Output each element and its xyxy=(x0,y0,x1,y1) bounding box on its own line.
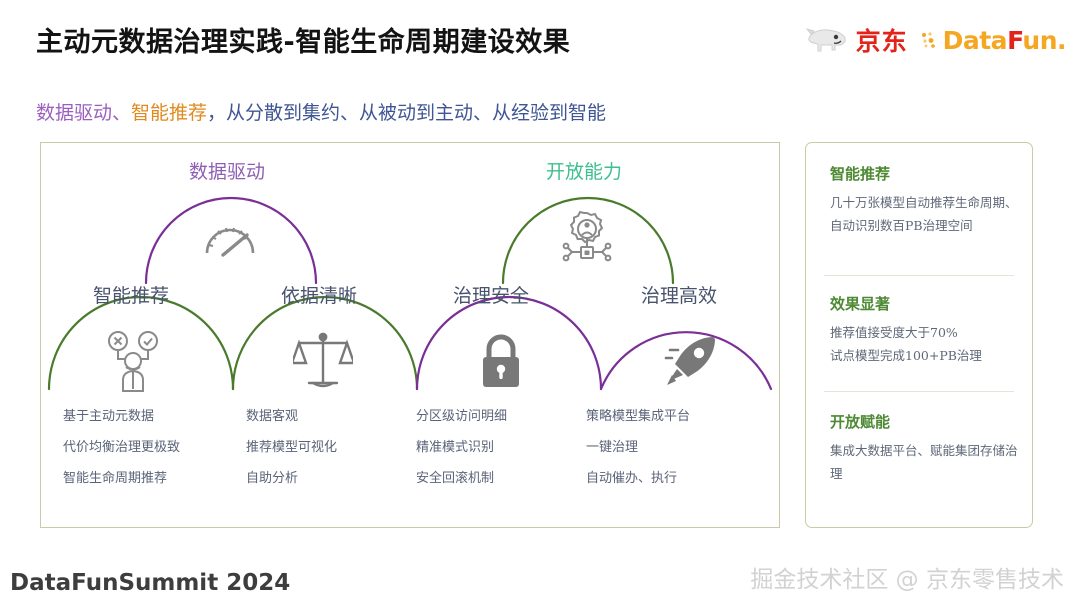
datafun-logo: DataFun. xyxy=(920,26,1066,55)
side-block-body-line: 试点模型完成100+PB治理 xyxy=(830,344,1018,367)
side-block-heading: 开放赋能 xyxy=(830,411,1018,432)
mid-label-1: 依据清晰 xyxy=(281,281,357,308)
side-divider xyxy=(824,275,1014,276)
bullet-column-0: 基于主动元数据 代价均衡治理更极致 智能生命周期推荐 xyxy=(63,401,180,494)
jd-logo: 京东 xyxy=(805,22,908,58)
mid-label-2: 治理安全 xyxy=(453,281,529,308)
bullet-column-2: 分区级访问明细 精准模式识别 安全回滚机制 xyxy=(416,401,507,494)
side-divider xyxy=(824,391,1014,392)
datafun-logo-text: DataFun. xyxy=(943,26,1066,55)
jd-logo-text: 京东 xyxy=(856,22,908,58)
subtitle-part-3: ，从分散到集约、从被动到主动、从经验到智能 xyxy=(207,102,606,124)
bullet-column-3: 策略模型集成平台 一键治理 自动催办、执行 xyxy=(586,401,690,494)
gear-network-person-icon xyxy=(556,209,618,274)
bullet-item: 安全回滚机制 xyxy=(416,463,507,494)
side-block-body-line: 推荐值接受度大于70% xyxy=(830,321,1018,344)
bullet-item: 精准模式识别 xyxy=(416,432,507,463)
bullet-item: 代价均衡治理更极致 xyxy=(63,432,180,463)
bullet-item: 自动催办、执行 xyxy=(586,463,690,494)
side-block-body: 集成大数据平台、赋能集团存储治理 xyxy=(830,439,1018,485)
people-approval-icon xyxy=(104,329,164,398)
bullet-item: 数据客观 xyxy=(246,401,337,432)
top-arch-label-0: 数据驱动 xyxy=(189,157,265,184)
datafun-dots-icon xyxy=(920,30,940,50)
rocket-icon xyxy=(663,331,721,394)
side-block-0: 智能推荐 几十万张模型自动推荐生命周期、自动识别数百PB治理空间 xyxy=(830,163,1018,237)
page-title: 主动元数据治理实践-智能生命周期建设效果 xyxy=(36,20,570,59)
subtitle-part-2: 智能推荐 xyxy=(131,102,207,124)
speedometer-gauge-icon xyxy=(199,213,261,270)
bullet-item: 分区级访问明细 xyxy=(416,401,507,432)
side-block-heading: 智能推荐 xyxy=(830,163,1018,184)
bullet-item: 推荐模型可视化 xyxy=(246,432,337,463)
footer-brand: DataFunSummit 2024 xyxy=(10,570,290,596)
side-block-body: 几十万张模型自动推荐生命周期、自动识别数百PB治理空间 xyxy=(830,191,1018,237)
bullet-item: 自助分析 xyxy=(246,463,337,494)
watermark: 掘金技术社区 @ 京东零售技术 xyxy=(750,560,1064,594)
brand-logos: 京东 DataFun. xyxy=(805,22,1066,58)
side-panel: 智能推荐 几十万张模型自动推荐生命周期、自动识别数百PB治理空间 效果显著 推荐… xyxy=(805,142,1033,528)
mid-label-0: 智能推荐 xyxy=(93,281,169,308)
subtitle-part-1: 数据驱动、 xyxy=(36,102,131,124)
subtitle: 数据驱动、智能推荐，从分散到集约、从被动到主动、从经验到智能 xyxy=(36,98,606,125)
bullet-item: 智能生命周期推荐 xyxy=(63,463,180,494)
bullet-item: 基于主动元数据 xyxy=(63,401,180,432)
side-block-1: 效果显著 推荐值接受度大于70% 试点模型完成100+PB治理 xyxy=(830,293,1018,367)
balance-scale-icon xyxy=(293,329,353,398)
bullet-column-1: 数据客观 推荐模型可视化 自助分析 xyxy=(246,401,337,494)
side-block-2: 开放赋能 集成大数据平台、赋能集团存储治理 xyxy=(830,411,1018,485)
top-arch-label-1: 开放能力 xyxy=(546,157,622,184)
bullet-item: 一键治理 xyxy=(586,432,690,463)
diagram-panel: 数据驱动 开放能力 xyxy=(40,142,780,528)
lock-icon xyxy=(473,331,529,398)
bullet-item: 策略模型集成平台 xyxy=(586,401,690,432)
side-block-heading: 效果显著 xyxy=(830,293,1018,314)
mid-label-3: 治理高效 xyxy=(641,281,717,308)
dog-mascot-icon xyxy=(805,25,851,55)
